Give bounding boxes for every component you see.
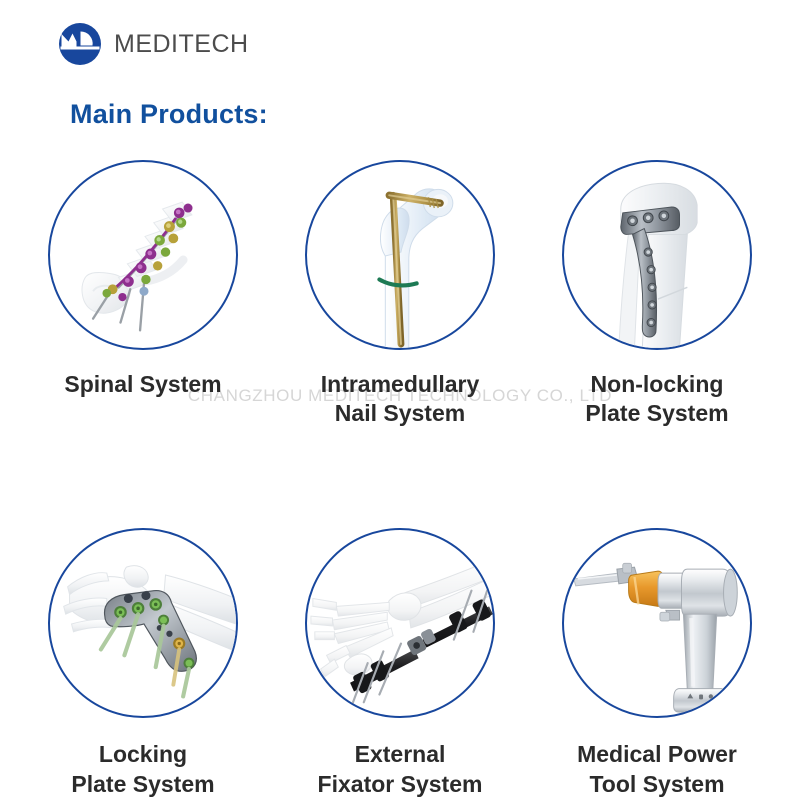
- product-card-locking-plate-system[interactable]: Locking Plate System: [48, 528, 238, 798]
- product-label: Non-locking Plate System: [585, 370, 728, 428]
- product-card-external-fixator-system[interactable]: External Fixator System: [305, 528, 495, 798]
- product-grid: Spinal System: [0, 160, 800, 799]
- femur-with-intramedullary-nail-illustration: [305, 160, 495, 350]
- tibia-with-bone-plate-illustration: [562, 160, 752, 350]
- product-row-bottom: Locking Plate System: [0, 528, 800, 798]
- spine-with-pedicle-screws-illustration: [48, 160, 238, 350]
- surgical-oscillating-saw-illustration: [562, 528, 752, 718]
- brand-header: MEDITECH: [58, 22, 249, 66]
- product-card-non-locking-plate-system[interactable]: Non-locking Plate System: [562, 160, 752, 428]
- distal-radius-locking-plate-illustration: [48, 528, 238, 718]
- hand-wrist-external-fixator-illustration: [305, 528, 495, 718]
- product-row-top: Spinal System: [0, 160, 800, 428]
- product-card-intramedullary-nail-system[interactable]: Intramedullary Nail System: [305, 160, 495, 428]
- product-label: Medical Power Tool System: [577, 740, 737, 798]
- product-card-medical-power-tool-system[interactable]: Medical Power Tool System: [562, 528, 752, 798]
- product-label: Intramedullary Nail System: [321, 370, 480, 428]
- page-title: Main Products:: [70, 99, 268, 130]
- product-card-spinal-system[interactable]: Spinal System: [48, 160, 238, 428]
- brand-name: MEDITECH: [114, 32, 249, 57]
- product-label: Locking Plate System: [71, 740, 214, 798]
- product-label: Spinal System: [64, 370, 221, 399]
- meditech-circle-logo-icon: [58, 22, 102, 66]
- product-label: External Fixator System: [318, 740, 483, 798]
